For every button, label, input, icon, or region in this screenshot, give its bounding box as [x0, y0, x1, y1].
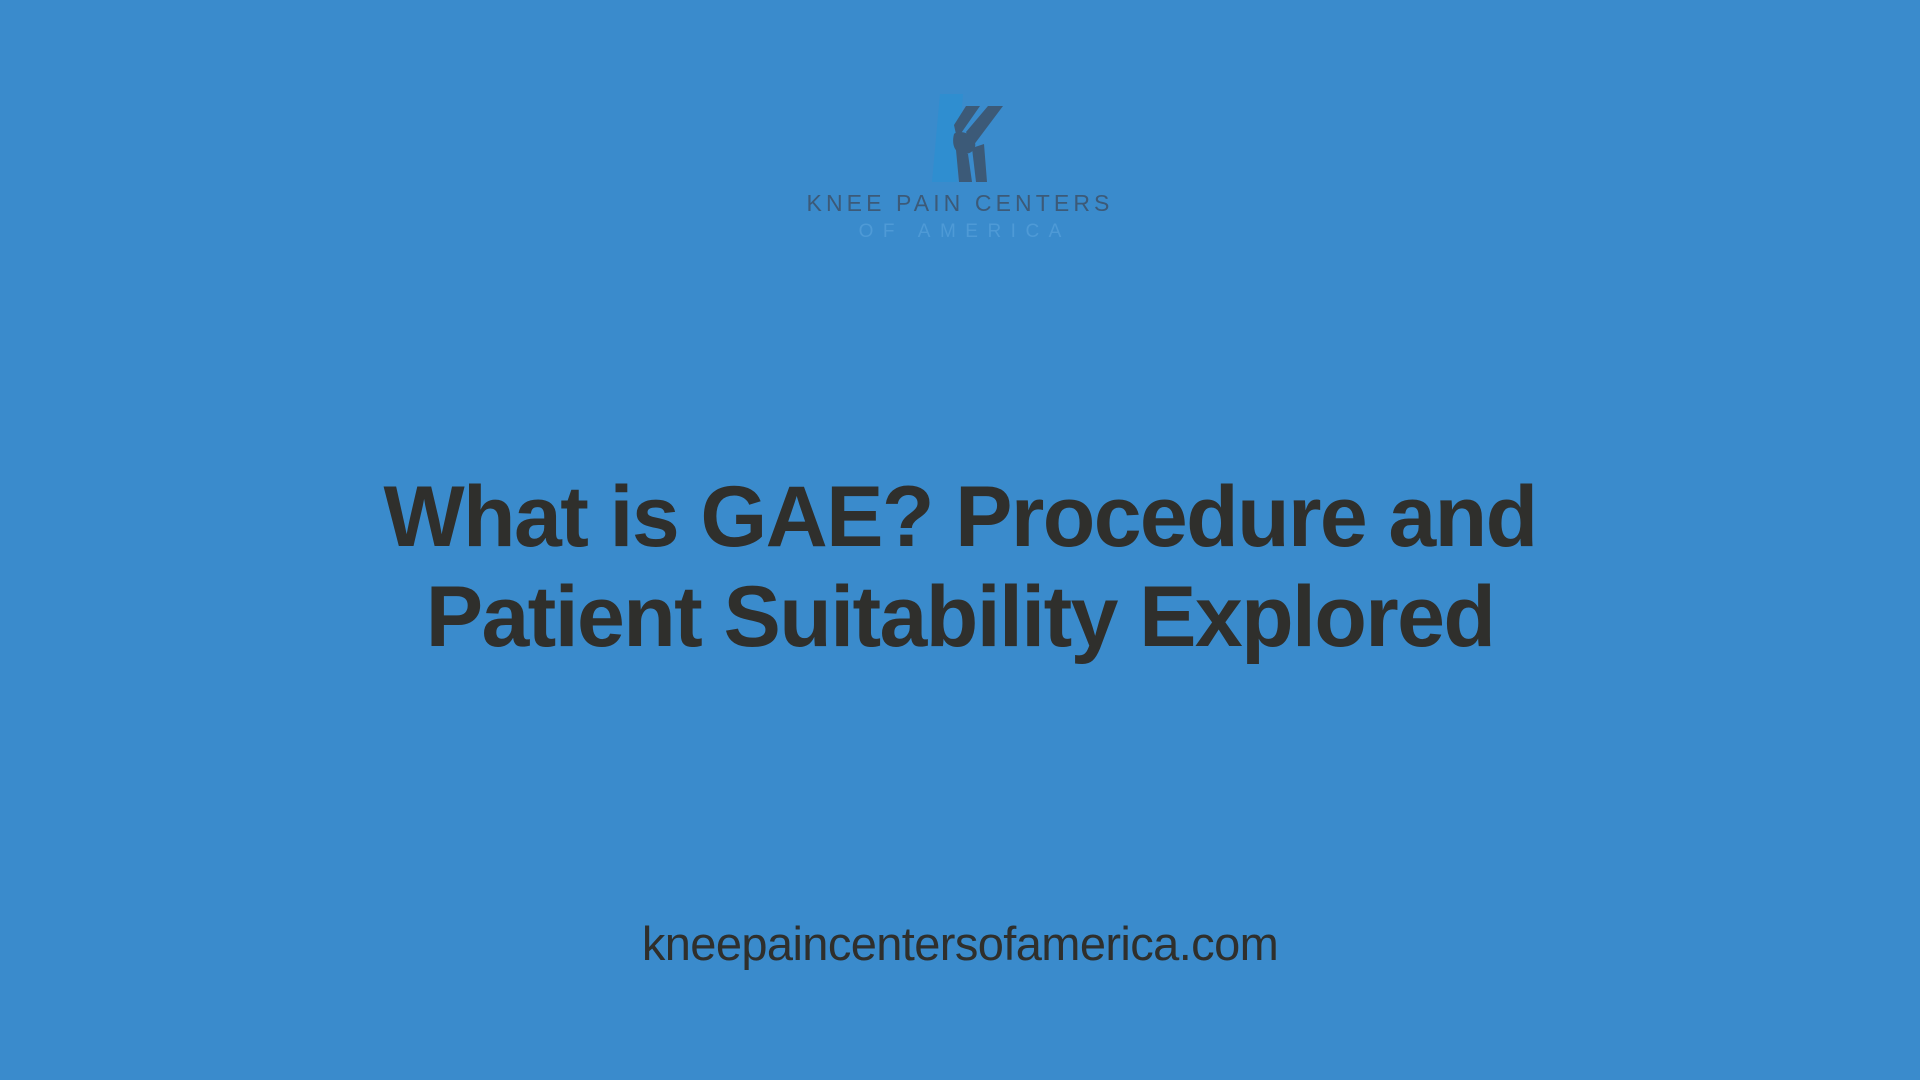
wordmark-primary-text: KNEE PAIN CENTERS: [807, 192, 1114, 215]
page-title-line-1: What is GAE? Procedure and: [383, 469, 1536, 565]
knee-joint-k-logo-icon: [910, 92, 1010, 184]
brand-lockup: KNEE PAIN CENTERS OF AMERICA: [0, 92, 1920, 241]
title-slide: KNEE PAIN CENTERS OF AMERICA What is GAE…: [0, 0, 1920, 1080]
page-title: What is GAE? Procedure and Patient Suita…: [0, 468, 1920, 668]
page-title-line-2: Patient Suitability Explored: [426, 569, 1495, 665]
site-url-text: kneepaincentersofamerica.com: [0, 916, 1920, 971]
wordmark-secondary-text: OF AMERICA: [849, 222, 1071, 241]
brand-wordmark: KNEE PAIN CENTERS OF AMERICA: [807, 192, 1114, 241]
